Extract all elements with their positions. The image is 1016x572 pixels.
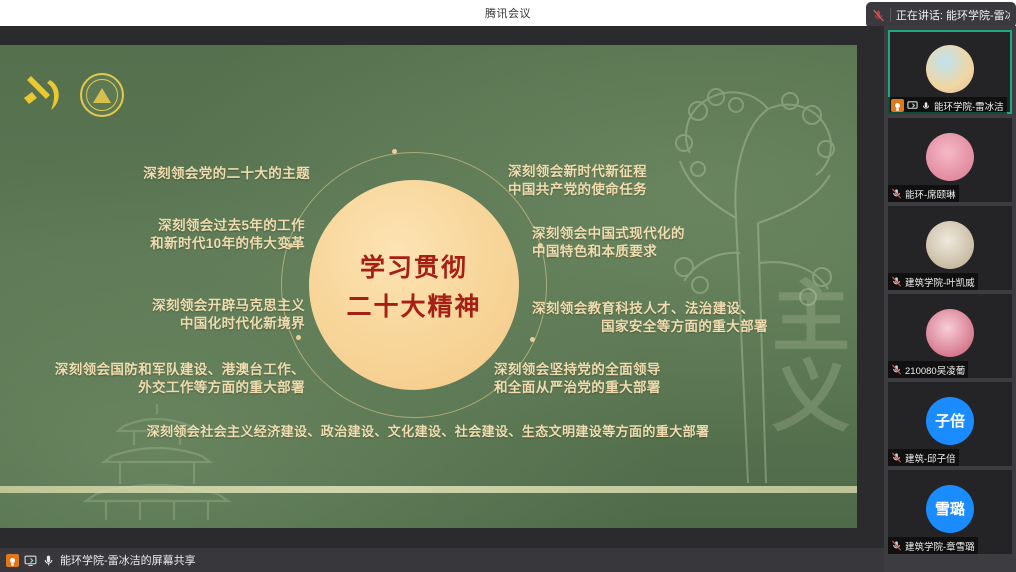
- slide-emblems: [20, 73, 124, 117]
- slide-label-newera: 深刻领会新时代新征程 中国共产党的使命任务: [508, 163, 798, 199]
- pagoda-decoration-icon: [62, 400, 252, 520]
- active-speaker-indicator: 正在讲话: 能环学院-雷冰洁: [866, 2, 1016, 28]
- screen-share-icon: [907, 100, 918, 111]
- avatar: [926, 221, 974, 269]
- participant-name: 能环-席颐琳: [905, 187, 956, 201]
- ring-dot: [392, 149, 397, 154]
- participants-rail[interactable]: 能环学院-雷冰洁 能环-席颐琳: [884, 26, 1016, 572]
- avatar: 子倍: [926, 397, 974, 445]
- active-speaker-text: 正在讲话: 能环学院-雷冰洁: [896, 7, 1010, 23]
- center-line-1: 学习贯彻: [360, 248, 468, 284]
- avatar: [926, 309, 974, 357]
- presentation-slide: 主义 学: [0, 45, 857, 528]
- participant-tile[interactable]: 210080吴凌葡: [888, 294, 1012, 378]
- participant-name: 210080吴凌葡: [905, 363, 965, 377]
- slide-label-theme: 深刻领会党的二十大的主题: [40, 165, 310, 183]
- mic-muted-red-icon: [872, 9, 885, 22]
- host-badge-icon: [891, 99, 904, 112]
- mic-muted-icon: [891, 452, 902, 463]
- microphone-icon: [42, 554, 55, 567]
- host-badge-icon: [6, 554, 19, 567]
- app-title: 腾讯会议: [485, 5, 531, 21]
- meeting-window: 腾讯会议 正在讲话: 能环学院-雷冰洁: [0, 0, 1016, 572]
- participant-name-bar: 能环-席颐琳: [888, 185, 959, 202]
- mic-muted-icon: [891, 540, 902, 551]
- avatar: [926, 133, 974, 181]
- ring-dot: [530, 337, 535, 342]
- slide-label-defense: 深刻领会国防和军队建设、港澳台工作、 外交工作等方面的重大部署: [20, 361, 305, 397]
- participant-name: 能环学院-雷冰洁: [934, 99, 1004, 113]
- participant-name-bar: 建筑-邱子倍: [888, 449, 959, 466]
- participant-name-bar: 210080吴凌葡: [888, 361, 968, 378]
- screen-share-text: 能环学院-雷冰洁的屏幕共享: [60, 552, 196, 568]
- window-title-bar: 腾讯会议: [0, 0, 1016, 26]
- mic-muted-icon: [891, 188, 902, 199]
- slide-label-leadership: 深刻领会坚持党的全面领导 和全面从严治党的重大部署: [494, 361, 794, 397]
- shared-screen-stage[interactable]: 主义 学: [0, 26, 884, 572]
- participant-tile[interactable]: 能环-席颐琳: [888, 118, 1012, 202]
- participant-name-bar: 建筑学院-叶凯威: [888, 273, 978, 290]
- participant-name-bar: 能环学院-雷冰洁: [888, 97, 1007, 114]
- participant-name: 建筑学院-叶凯威: [905, 275, 975, 289]
- mic-muted-icon: [891, 364, 902, 375]
- slide-label-past5years: 深刻领会过去5年的工作 和新时代10年的伟大变革: [40, 217, 305, 253]
- pill-divider: [890, 8, 891, 22]
- slide-center-circle: 学习贯彻 二十大精神: [309, 180, 519, 390]
- participant-name-bar: 建筑学院-章雪璐: [888, 537, 978, 554]
- party-emblem-icon: [20, 74, 66, 116]
- avatar: [926, 45, 974, 93]
- slide-label-education: 深刻领会教育科技人才、法治建设、 国家安全等方面的重大部署: [532, 300, 837, 336]
- slide-label-economy: 深刻领会社会主义经济建设、政治建设、文化建设、社会建设、生态文明建设等方面的重大…: [18, 423, 838, 440]
- participant-tile[interactable]: 能环学院-雷冰洁: [888, 30, 1012, 114]
- participant-tile[interactable]: 子倍 建筑-邱子倍: [888, 382, 1012, 466]
- ring-dot: [296, 335, 301, 340]
- screen-share-icon: [24, 554, 37, 567]
- screen-share-status-bar: 能环学院-雷冰洁的屏幕共享: [0, 548, 884, 572]
- participant-tile[interactable]: 建筑学院-叶凯威: [888, 206, 1012, 290]
- center-line-2: 二十大精神: [346, 287, 481, 323]
- slide-label-modernization: 深刻领会中国式现代化的 中国特色和本质要求: [532, 225, 822, 261]
- avatar: 雪璐: [926, 485, 974, 533]
- participant-name: 建筑学院-章雪璐: [905, 539, 975, 553]
- mic-muted-icon: [891, 276, 902, 287]
- participant-name: 建筑-邱子倍: [905, 451, 956, 465]
- slide-label-marxism: 深刻领会开辟马克思主义 中国化时代化新境界: [40, 297, 305, 333]
- participant-tile[interactable]: 雪璐 建筑学院-章雪璐: [888, 470, 1012, 554]
- university-seal-icon: [80, 73, 124, 117]
- microphone-icon: [921, 101, 931, 111]
